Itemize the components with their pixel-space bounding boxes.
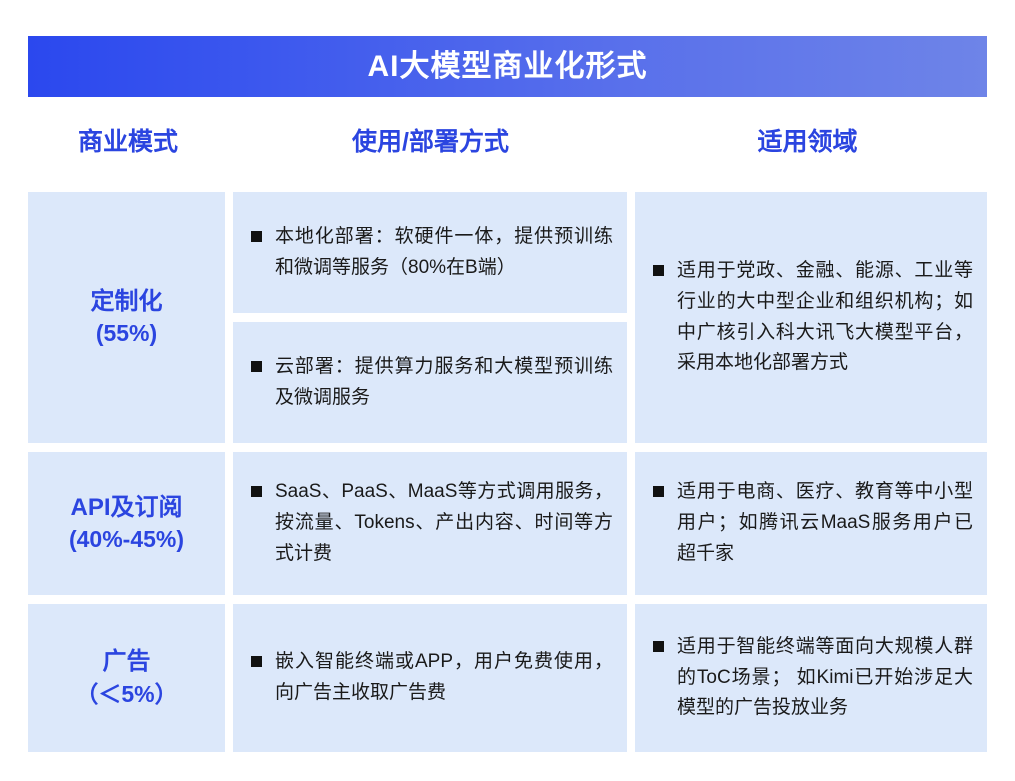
list-item-text: SaaS、PaaS、MaaS等方式调用服务，按流量、Tokens、产出内容、时间… (275, 477, 613, 569)
deployment-cell-api: SaaS、PaaS、MaaS等方式调用服务，按流量、Tokens、产出内容、时间… (233, 452, 627, 595)
list-item-text: 嵌入智能终端或APP，用户免费使用，向广告主收取广告费 (275, 647, 613, 709)
deployment-cell-advertising: 嵌入智能终端或APP，用户免费使用，向广告主收取广告费 (233, 604, 627, 752)
page-title: AI大模型商业化形式 (368, 52, 648, 82)
domain-cell-customization: 适用于党政、金融、能源、工业等行业的大中型企业和组织机构；如中广核引入科大讯飞大… (635, 192, 987, 443)
list-item: 云部署：提供算力服务和大模型预训练及微调服务 (251, 352, 613, 414)
square-bullet-icon (251, 656, 262, 667)
list-item-text: 本地化部署：软硬件一体，提供预训练和微调等服务（80%在B端） (275, 222, 613, 284)
list-item: 适用于智能终端等面向大规模人群的ToC场景； 如Kimi已开始涉足大模型的广告投… (653, 632, 973, 724)
slide-title-banner: AI大模型商业化形式 (28, 36, 987, 97)
slide-canvas: AI大模型商业化形式 商业模式 使用/部署方式 适用领域 定制化 (55%) 本… (0, 0, 1015, 781)
mode-name: 广告 (103, 646, 151, 678)
square-bullet-icon (251, 361, 262, 372)
domain-cell-api: 适用于电商、医疗、教育等中小型用户；如腾讯云MaaS服务用户已超千家 (635, 452, 987, 595)
square-bullet-icon (251, 486, 262, 497)
square-bullet-icon (653, 641, 664, 652)
mode-name: API及订阅 (70, 492, 182, 524)
list-item: 适用于党政、金融、能源、工业等行业的大中型企业和组织机构；如中广核引入科大讯飞大… (653, 256, 973, 379)
mode-percentage: (55%) (96, 318, 157, 349)
list-item: SaaS、PaaS、MaaS等方式调用服务，按流量、Tokens、产出内容、时间… (251, 477, 613, 569)
square-bullet-icon (251, 231, 262, 242)
table-row-mode-advertising: 广告 （＜5%） (28, 604, 225, 752)
list-item-text: 适用于智能终端等面向大规模人群的ToC场景； 如Kimi已开始涉足大模型的广告投… (677, 632, 973, 724)
list-item-text: 适用于电商、医疗、教育等中小型用户；如腾讯云MaaS服务用户已超千家 (677, 477, 973, 569)
column-header-deployment: 使用/部署方式 (233, 120, 628, 164)
mode-name: 定制化 (91, 286, 163, 318)
mode-percentage: (40%-45%) (69, 524, 184, 555)
table-row-mode-api-subscription: API及订阅 (40%-45%) (28, 452, 225, 595)
list-item: 本地化部署：软硬件一体，提供预训练和微调等服务（80%在B端） (251, 222, 613, 284)
table-row-mode-customization: 定制化 (55%) (28, 192, 225, 443)
column-header-row: 商业模式 使用/部署方式 适用领域 (28, 120, 987, 168)
deployment-cell-local: 本地化部署：软硬件一体，提供预训练和微调等服务（80%在B端） (233, 192, 627, 313)
column-header-domain: 适用领域 (628, 120, 987, 164)
list-item-text: 适用于党政、金融、能源、工业等行业的大中型企业和组织机构；如中广核引入科大讯飞大… (677, 256, 973, 379)
comparison-grid: 定制化 (55%) 本地化部署：软硬件一体，提供预训练和微调等服务（80%在B端… (28, 192, 987, 752)
domain-cell-advertising: 适用于智能终端等面向大规模人群的ToC场景； 如Kimi已开始涉足大模型的广告投… (635, 604, 987, 752)
column-header-business-model: 商业模式 (28, 120, 228, 164)
list-item-text: 云部署：提供算力服务和大模型预训练及微调服务 (275, 352, 613, 414)
list-item: 适用于电商、医疗、教育等中小型用户；如腾讯云MaaS服务用户已超千家 (653, 477, 973, 569)
deployment-cell-cloud: 云部署：提供算力服务和大模型预训练及微调服务 (233, 322, 627, 443)
square-bullet-icon (653, 486, 664, 497)
mode-percentage: （＜5%） (75, 679, 177, 710)
list-item: 嵌入智能终端或APP，用户免费使用，向广告主收取广告费 (251, 647, 613, 709)
square-bullet-icon (653, 265, 664, 276)
